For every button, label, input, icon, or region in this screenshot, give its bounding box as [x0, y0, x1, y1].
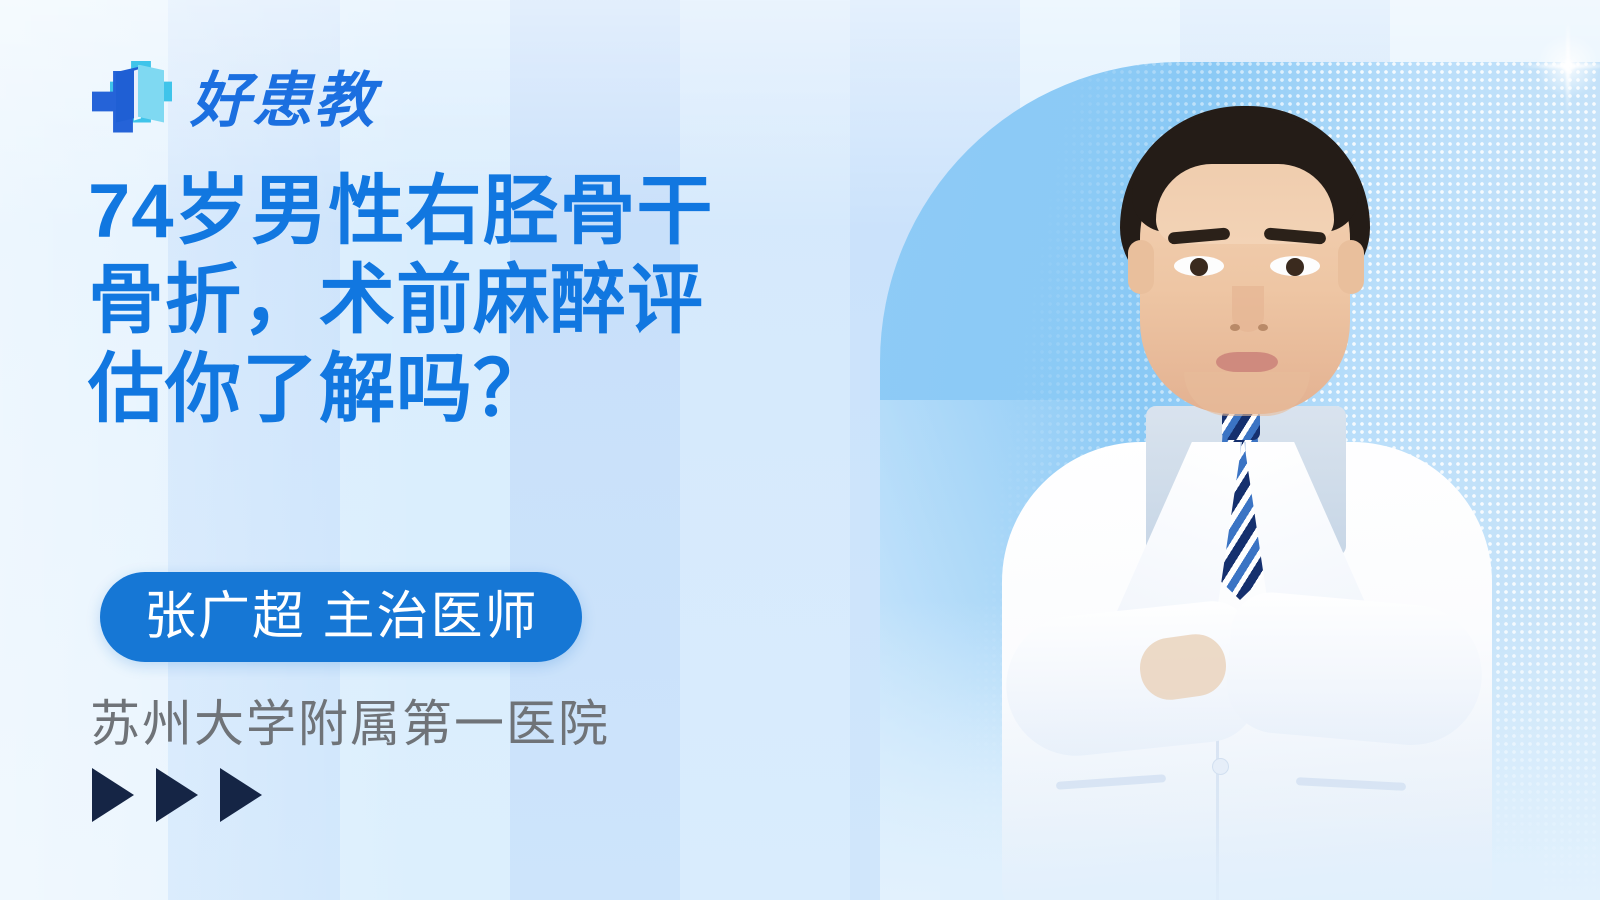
ear-left: [1128, 240, 1154, 294]
stripe-5: [680, 0, 850, 900]
presenter-badge-label: 张广超 主治医师: [144, 591, 538, 643]
portrait-bottom-fade: [940, 690, 1540, 900]
play-triangle-icon-1: [92, 768, 134, 822]
medical-cross-book-icon: [88, 53, 174, 139]
ear-right: [1338, 240, 1364, 294]
presenter-badge: 张广超 主治医师: [100, 572, 582, 662]
book-page-right: [138, 65, 164, 123]
pupil-right: [1286, 258, 1304, 276]
play-arrows: [92, 768, 262, 822]
mouth: [1216, 352, 1278, 372]
play-triangle-icon-3: [220, 768, 262, 822]
poster-canvas: 好患教 74岁男性右胫骨干 骨折，术前麻醉评 估你了解吗？ 张广超 主治医师 苏…: [0, 0, 1600, 900]
title-line-1: 74岁男性右胫骨干: [88, 168, 878, 257]
stripe-4: [510, 0, 680, 900]
brand-logo-text: 好患教: [190, 52, 376, 139]
hospital-name: 苏州大学附属第一医院: [90, 684, 610, 756]
page-title: 74岁男性右胫骨干 骨折，术前麻醉评 估你了解吗？: [88, 168, 878, 435]
nostril-left: [1230, 324, 1240, 331]
play-triangle-icon-2: [156, 768, 198, 822]
nostril-right: [1258, 324, 1268, 331]
brand-logo: 好患教: [88, 52, 376, 139]
title-line-2: 骨折，术前麻醉评: [88, 257, 878, 346]
doctor-portrait: [960, 90, 1520, 900]
title-line-3: 估你了解吗？: [88, 346, 878, 435]
pupil-left: [1190, 258, 1208, 276]
